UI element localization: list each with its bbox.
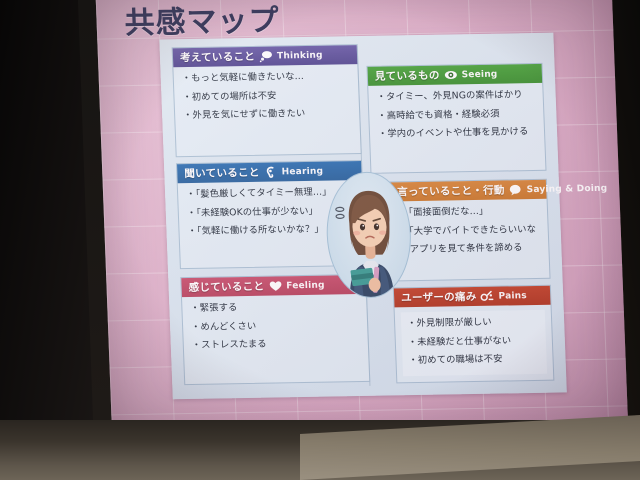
projected-slide-photo: 共感マップ 考えていること Thinking ・もっと気軽に働きたいな… ・初め… — [0, 0, 640, 480]
list-item: ・ストレスたまる — [192, 337, 360, 352]
empathy-map-board: 考えていること Thinking ・もっと気軽に働きたいな… ・初めての場所は不… — [159, 33, 567, 400]
panel-pains-header: ユーザーの痛み Pains — [394, 286, 551, 308]
panel-pains-body: ・外見制限が厳しい ・未経験だと仕事がない ・初めての職場は不安 — [401, 310, 547, 376]
panel-saying-body: ・「面接面倒だな…」 ・「大学でバイトできたらいいな ・アプリを見て条件を諦める — [391, 199, 549, 268]
worried-student-illustration — [325, 172, 413, 298]
panel-feeling-label-en: Feeling — [286, 280, 325, 291]
page-title: 共感マップ — [124, 0, 281, 42]
panel-saying-and-doing[interactable]: 言っていること・行動 Saying & Doing ・「面接面倒だな…」 ・「大… — [389, 179, 551, 282]
list-item: ・アプリを見て条件を諦める — [400, 242, 540, 256]
ear-icon — [263, 165, 277, 178]
thought-bubble-icon — [259, 50, 273, 63]
panel-thinking-label-en: Thinking — [277, 50, 323, 61]
list-item: ・タイミー、外見NGの案件ばかり — [376, 89, 534, 103]
slide-transform-wrapper: 共感マップ 考えていること Thinking ・もっと気軽に働きたいな… ・初め… — [96, 0, 629, 444]
persona-avatar — [324, 171, 413, 298]
panel-hearing-label-ja: 聞いていること — [184, 165, 260, 181]
panel-seeing-label-ja: 見ているもの — [375, 68, 440, 84]
list-item: ・初めての職場は不安 — [408, 353, 540, 367]
eye-icon — [443, 68, 457, 81]
panel-seeing-body: ・タイミー、外見NGの案件ばかり ・高時給でも資格・経験必須 ・学内のイベントや… — [368, 83, 544, 152]
panel-feeling-label-ja: 感じていること — [188, 279, 264, 295]
panel-pains-label-en: Pains — [498, 291, 527, 301]
list-item: ・初めての場所は不安 — [182, 89, 350, 104]
list-item: ・「面接面倒だな…」 — [399, 205, 539, 219]
heart-icon — [268, 279, 282, 292]
panel-feeling-body: ・緊張する ・めんどくさい ・ストレスたまる — [182, 294, 368, 363]
list-item: ・緊張する — [190, 300, 358, 315]
panel-pains[interactable]: ユーザーの痛み Pains ・外見制限が厳しい ・未経験だと仕事がない ・初めて… — [393, 285, 555, 384]
broken-heart-pain-icon — [480, 290, 494, 303]
list-item: ・未経験だと仕事がない — [408, 335, 540, 349]
panel-seeing[interactable]: 見ているもの Seeing ・タイミー、外見NGの案件ばかり ・高時給でも資格・… — [366, 63, 546, 174]
list-item: ・「大学でバイトできたらいいな — [399, 224, 539, 238]
panel-thinking[interactable]: 考えていること Thinking ・もっと気軽に働きたいな… ・初めての場所は不… — [172, 44, 362, 157]
list-item: ・外見制限が厳しい — [407, 316, 539, 330]
list-item: ・めんどくさい — [191, 319, 359, 334]
panel-seeing-label-en: Seeing — [461, 69, 497, 80]
list-item: ・学内のイベントや仕事を見かける — [378, 126, 536, 140]
list-item: ・もっと気軽に働きたいな… — [182, 70, 350, 85]
panel-pains-label-ja: ユーザーの痛み — [401, 289, 477, 305]
panel-thinking-label-ja: 考えていること — [180, 49, 256, 65]
slide-background: 共感マップ 考えていること Thinking ・もっと気軽に働きたいな… ・初め… — [96, 0, 629, 444]
list-item: ・高時給でも資格・経験必須 — [377, 108, 535, 122]
list-item: ・外見を気にせずに働きたい — [183, 107, 351, 122]
speech-bubble-icon — [508, 183, 522, 196]
panel-hearing-label-en: Hearing — [281, 166, 323, 177]
panel-saying-label-en: Saying & Doing — [526, 183, 607, 194]
panel-saying-label-ja: 言っていること・行動 — [397, 183, 505, 200]
panel-thinking-body: ・もっと気軽に働きたいな… ・初めての場所は不安 ・外見を気にせずに働きたい — [173, 64, 359, 133]
